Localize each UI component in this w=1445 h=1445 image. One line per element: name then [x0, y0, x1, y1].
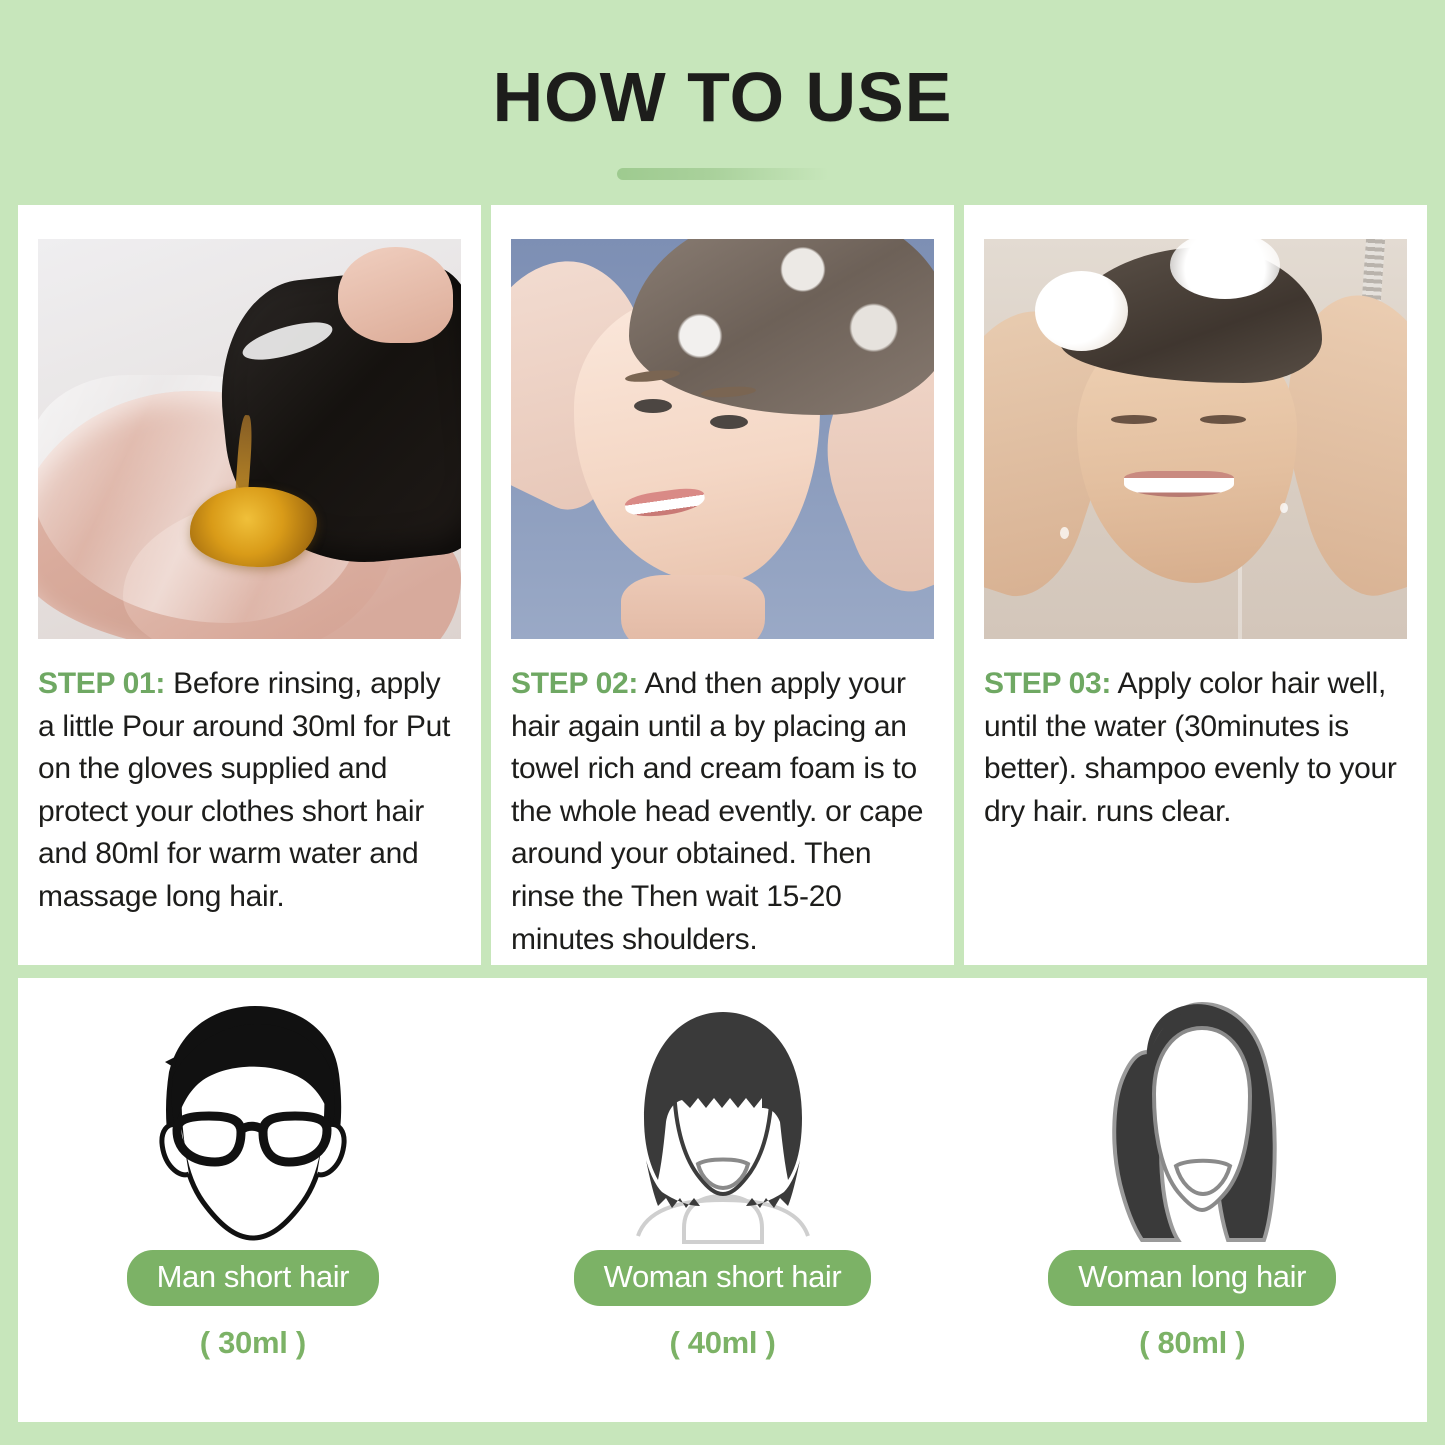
right-eye [1200, 415, 1247, 424]
dosage-item-man-short-hair: Man short hair ( 30ml ) [18, 978, 488, 1422]
woman-long-hair-icon [1062, 996, 1322, 1244]
woman-short-hair-volume: ( 40ml ) [669, 1325, 775, 1361]
water-droplet [1280, 503, 1288, 513]
woman-long-hair-label[interactable]: Woman long hair [1048, 1250, 1336, 1306]
foam-cluster-left [1035, 271, 1128, 351]
step-3-text: STEP 03: Apply color hair well, until th… [984, 663, 1407, 833]
step-2-text: STEP 02: And then apply your hair again … [511, 663, 934, 961]
step-1-label: STEP 01: [38, 667, 165, 700]
woman-short-hair-icon [593, 996, 853, 1244]
woman-short-hair-label[interactable]: Woman short hair [574, 1250, 872, 1306]
man-short-hair-icon [123, 996, 383, 1244]
step-2-photo [511, 239, 934, 639]
steps-row: STEP 01: Before rinsing, apply a little … [18, 205, 1427, 965]
step-2-label: STEP 02: [511, 667, 638, 700]
header: HOW TO USE [0, 0, 1445, 205]
step-card-1: STEP 01: Before rinsing, apply a little … [18, 205, 481, 965]
step-card-3: STEP 03: Apply color hair well, until th… [964, 205, 1427, 965]
step-1-photo [38, 239, 461, 639]
left-eye [634, 399, 672, 413]
step-3-label: STEP 03: [984, 667, 1111, 700]
title-divider-bar [617, 168, 829, 180]
man-short-hair-volume: ( 30ml ) [200, 1325, 306, 1361]
left-eye [1111, 415, 1158, 424]
dosage-item-woman-short-hair: Woman short hair ( 40ml ) [488, 978, 958, 1422]
step-1-text: STEP 01: Before rinsing, apply a little … [38, 663, 461, 919]
right-eye [710, 415, 748, 429]
thumb-shape [338, 247, 452, 343]
smiling-mouth [1124, 471, 1234, 497]
page-title: HOW TO USE [493, 62, 953, 132]
step-3-photo [984, 239, 1407, 639]
neck-shape [621, 575, 765, 639]
dosage-item-woman-long-hair: Woman long hair ( 80ml ) [957, 978, 1427, 1422]
step-2-body: And then apply your hair again until a b… [511, 667, 923, 956]
woman-long-hair-volume: ( 80ml ) [1139, 1325, 1245, 1361]
step-card-2: STEP 02: And then apply your hair again … [491, 205, 954, 965]
how-to-use-infographic: HOW TO USE STEP 01: Before rinsing, appl… [0, 0, 1445, 1445]
amber-oil-pool [190, 487, 317, 567]
step-1-body: Before rinsing, apply a little Pour arou… [38, 667, 450, 913]
man-short-hair-label[interactable]: Man short hair [127, 1250, 380, 1306]
dosage-panel: Man short hair ( 30ml ) Woman short hair… [18, 978, 1427, 1422]
